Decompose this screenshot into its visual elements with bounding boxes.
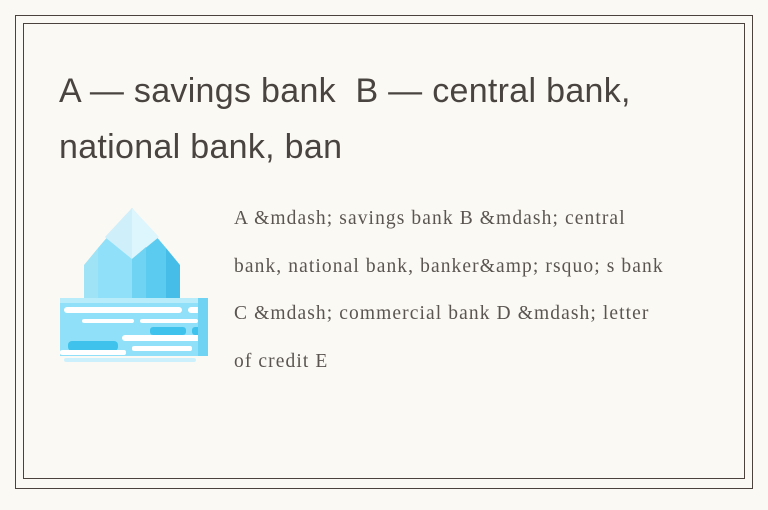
page-title: A — savings bank B — central bank, natio… — [59, 63, 659, 175]
card-content: A — savings bank B — central bank, natio… — [23, 23, 745, 479]
iceberg-icon — [58, 203, 213, 368]
page-root: A — savings bank B — central bank, natio… — [0, 0, 768, 510]
illustration-and-text-row: A &mdash; savings bank B &mdash; central… — [23, 195, 745, 465]
body-paragraph: A &mdash; savings bank B &mdash; central… — [234, 195, 664, 385]
